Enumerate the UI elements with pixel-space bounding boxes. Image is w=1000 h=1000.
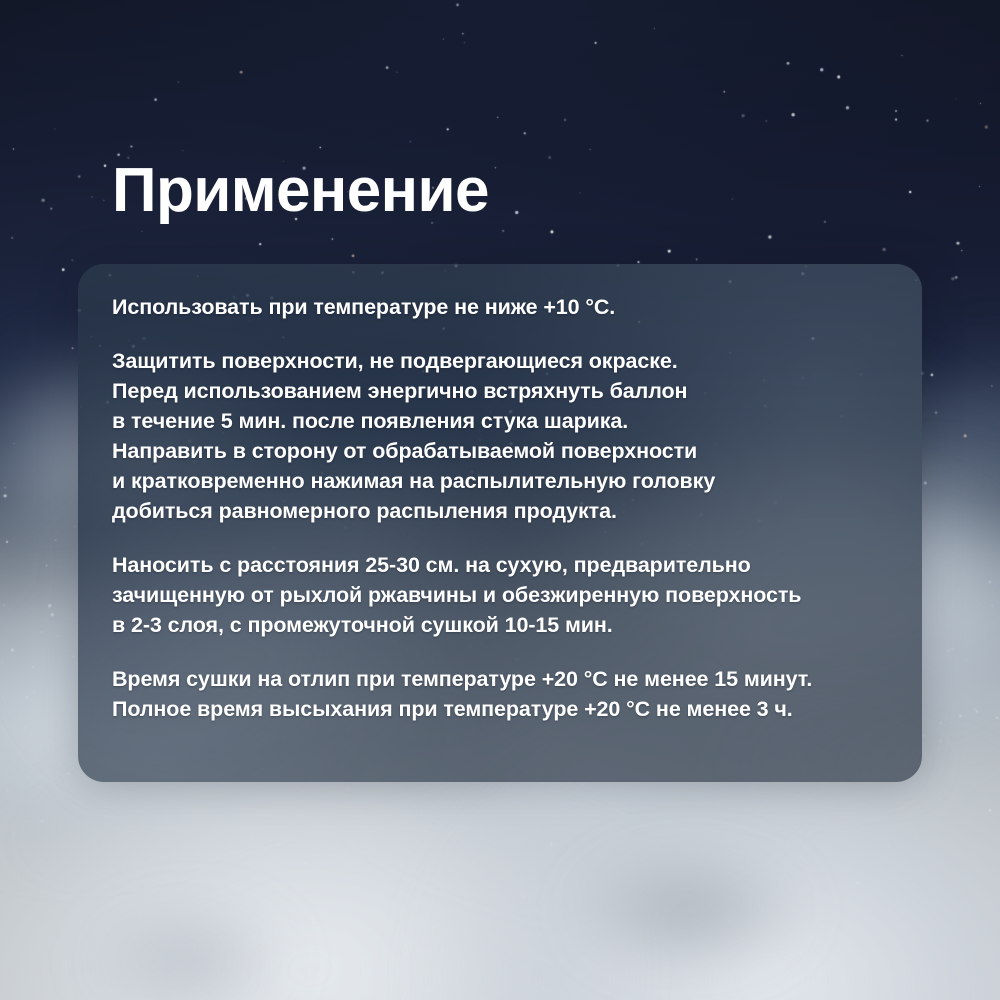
instructions-text-block: Использовать при температуре не ниже +10… — [78, 264, 922, 724]
instruction-line: зачищенную от рыхлой ржавчины и обезжире… — [112, 580, 888, 610]
instruction-paragraph: Наносить с расстояния 25-30 см. на сухую… — [112, 550, 888, 640]
page-title: Применение — [112, 160, 489, 222]
instruction-line: Перед использованием энергично встряхнут… — [112, 376, 888, 406]
instruction-paragraph: Использовать при температуре не ниже +10… — [112, 292, 888, 322]
instruction-line: Использовать при температуре не ниже +10… — [112, 292, 888, 322]
instruction-paragraph: Время сушки на отлип при температуре +20… — [112, 664, 888, 724]
instruction-line: Направить в сторону от обрабатываемой по… — [112, 436, 888, 466]
instruction-line: в течение 5 мин. после появления стука ш… — [112, 406, 888, 436]
instruction-line: Наносить с расстояния 25-30 см. на сухую… — [112, 550, 888, 580]
instruction-line: в 2-3 слоя, с промежуточной сушкой 10-15… — [112, 610, 888, 640]
instruction-line: Полное время высыхания при температуре +… — [112, 694, 888, 724]
instruction-line: и кратковременно нажимая на распылительн… — [112, 466, 888, 496]
poster-canvas: Применение Использовать при температуре … — [0, 0, 1000, 1000]
instruction-line: Защитить поверхности, не подвергающиеся … — [112, 346, 888, 376]
instruction-line: Время сушки на отлип при температуре +20… — [112, 664, 888, 694]
instruction-line: добиться равномерного распыления продукт… — [112, 496, 888, 526]
instruction-paragraph: Защитить поверхности, не подвергающиеся … — [112, 346, 888, 526]
instructions-card: Использовать при температуре не ниже +10… — [78, 264, 922, 782]
